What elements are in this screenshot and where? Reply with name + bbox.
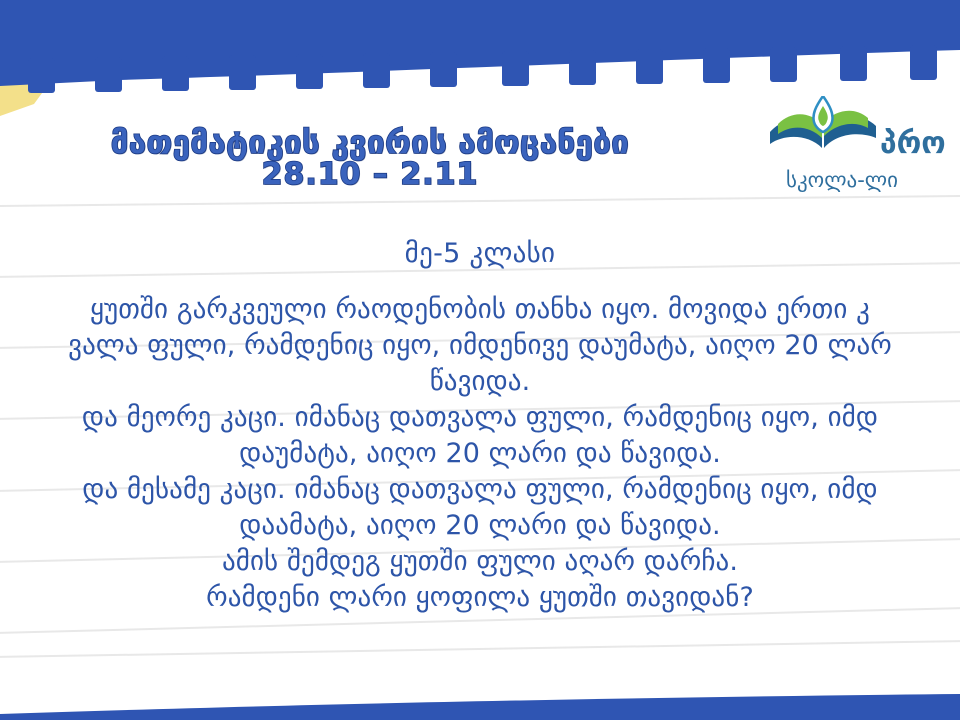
dash-square bbox=[636, 49, 663, 84]
dash-square bbox=[229, 55, 256, 90]
problem-line: და მესამე კაცი. იმანაც დათვალა ფული, რამ… bbox=[0, 472, 960, 508]
problem-line: და მეორე კაცი. იმანაც დათვალა ფული, რამდ… bbox=[0, 400, 960, 436]
dash-square bbox=[95, 57, 122, 92]
dash-square bbox=[703, 48, 730, 83]
dash-square bbox=[840, 46, 867, 81]
dash-square bbox=[430, 52, 457, 87]
problem-line: ამის შემდეგ ყუთში ფული აღარ დარჩა. bbox=[0, 544, 960, 580]
dash-square bbox=[569, 50, 596, 85]
slide-canvas: მათემატიკის კვირის ამოცანები 28.10 – 2.1… bbox=[0, 0, 960, 720]
dash-square bbox=[502, 51, 529, 86]
problem-text: ყუთში გარკვეული რაოდენობის თანხა იყო. მო… bbox=[0, 292, 960, 616]
problem-line: ვალა ფული, რამდენიც იყო, იმდენივე დაუმატ… bbox=[0, 328, 960, 364]
dash-square bbox=[910, 45, 937, 80]
title-line-dates: 28.10 – 2.11 bbox=[60, 160, 680, 191]
open-book-flame-icon bbox=[768, 96, 878, 158]
dash-square bbox=[162, 56, 189, 91]
dash-square bbox=[28, 58, 55, 93]
problem-line: დაუმატა, აიღო 20 ლარი და წავიდა. bbox=[0, 436, 960, 472]
logo-subtitle: სკოლა-ლი bbox=[786, 168, 898, 192]
dash-square bbox=[363, 53, 390, 88]
problem-line: წავიდა. bbox=[0, 364, 960, 400]
dash-square bbox=[296, 54, 323, 89]
organization-logo: პრო სკოლა-ლი bbox=[762, 96, 960, 208]
problem-line: რამდენი ლარი ყოფილა ყუთში თავიდან? bbox=[0, 580, 960, 616]
page-title: მათემატიკის კვირის ამოცანები 28.10 – 2.1… bbox=[60, 128, 680, 190]
title-line-main: მათემატიკის კვირის ამოცანები bbox=[60, 128, 680, 160]
grade-subtitle: მე-5 კლასი bbox=[0, 238, 960, 269]
logo-name: პრო bbox=[880, 126, 946, 161]
problem-line: ყუთში გარკვეული რაოდენობის თანხა იყო. მო… bbox=[0, 292, 960, 328]
dash-square bbox=[770, 47, 797, 82]
bottom-blue-band bbox=[0, 694, 960, 720]
problem-line: დაამატა, აიღო 20 ლარი და წავიდა. bbox=[0, 508, 960, 544]
